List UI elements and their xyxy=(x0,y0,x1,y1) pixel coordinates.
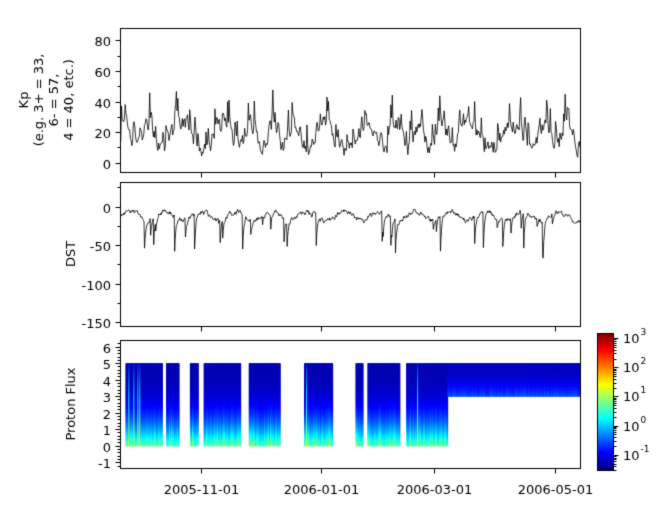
plot-canvas xyxy=(0,0,665,523)
space-weather-figure: Kp (e.g. 3+ = 33, 6- = 57, 4 = 40, etc.)… xyxy=(0,0,665,523)
